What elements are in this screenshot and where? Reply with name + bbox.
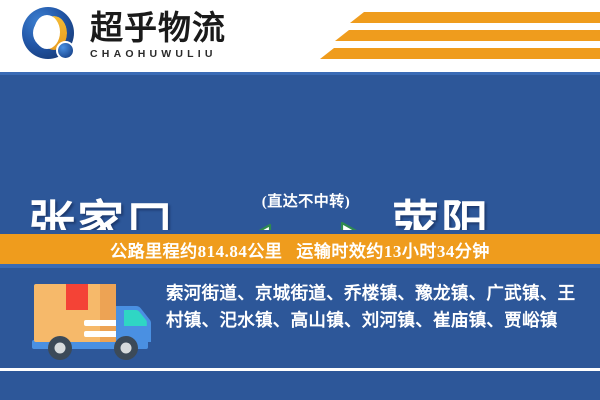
brand-logo-group: 超乎物流 CHAOHUWULIU	[22, 6, 226, 66]
coverage-section: 索河街道、京城街道、乔楼镇、豫龙镇、广武镇、王村镇、汜水镇、高山镇、刘河镇、崔庙…	[0, 268, 600, 400]
decorative-stripe-1	[350, 12, 600, 23]
decorative-stripe-3	[320, 48, 600, 59]
direct-route-note: (直达不中转)	[233, 190, 379, 211]
brand-text-group: 超乎物流 CHAOHUWULIU	[90, 12, 226, 61]
delivery-truck-icon	[28, 278, 158, 368]
company-name-cn: 超乎物流	[90, 12, 226, 47]
chaohu-logistics-circle-logo-icon	[22, 7, 80, 65]
header-bar: 超乎物流 CHAOHUWULIU	[0, 0, 600, 72]
logo-dot-shape	[56, 41, 75, 60]
duration-text: 运输时效约13小时34分钟	[296, 237, 490, 262]
company-name-pinyin: CHAOHUWULIU	[90, 48, 226, 60]
info-bar: 公路里程约814.84公里 运输时效约13小时34分钟	[0, 234, 600, 264]
coverage-towns-list: 索河街道、京城街道、乔楼镇、豫龙镇、广武镇、王村镇、汜水镇、高山镇、刘河镇、崔庙…	[166, 280, 584, 334]
route-section: 张家口 (直达不中转) 【往返运输】 荥阳	[0, 75, 600, 230]
decorative-stripe-2	[335, 30, 600, 41]
logistics-route-banner: 超乎物流 CHAOHUWULIU 张家口 (直达不中转) 【往返运输】 荥阳 公…	[0, 0, 600, 400]
logo-crescent-cutout-shape	[34, 15, 60, 49]
distance-text: 公路里程约814.84公里	[110, 237, 282, 262]
bottom-divider	[0, 368, 600, 371]
